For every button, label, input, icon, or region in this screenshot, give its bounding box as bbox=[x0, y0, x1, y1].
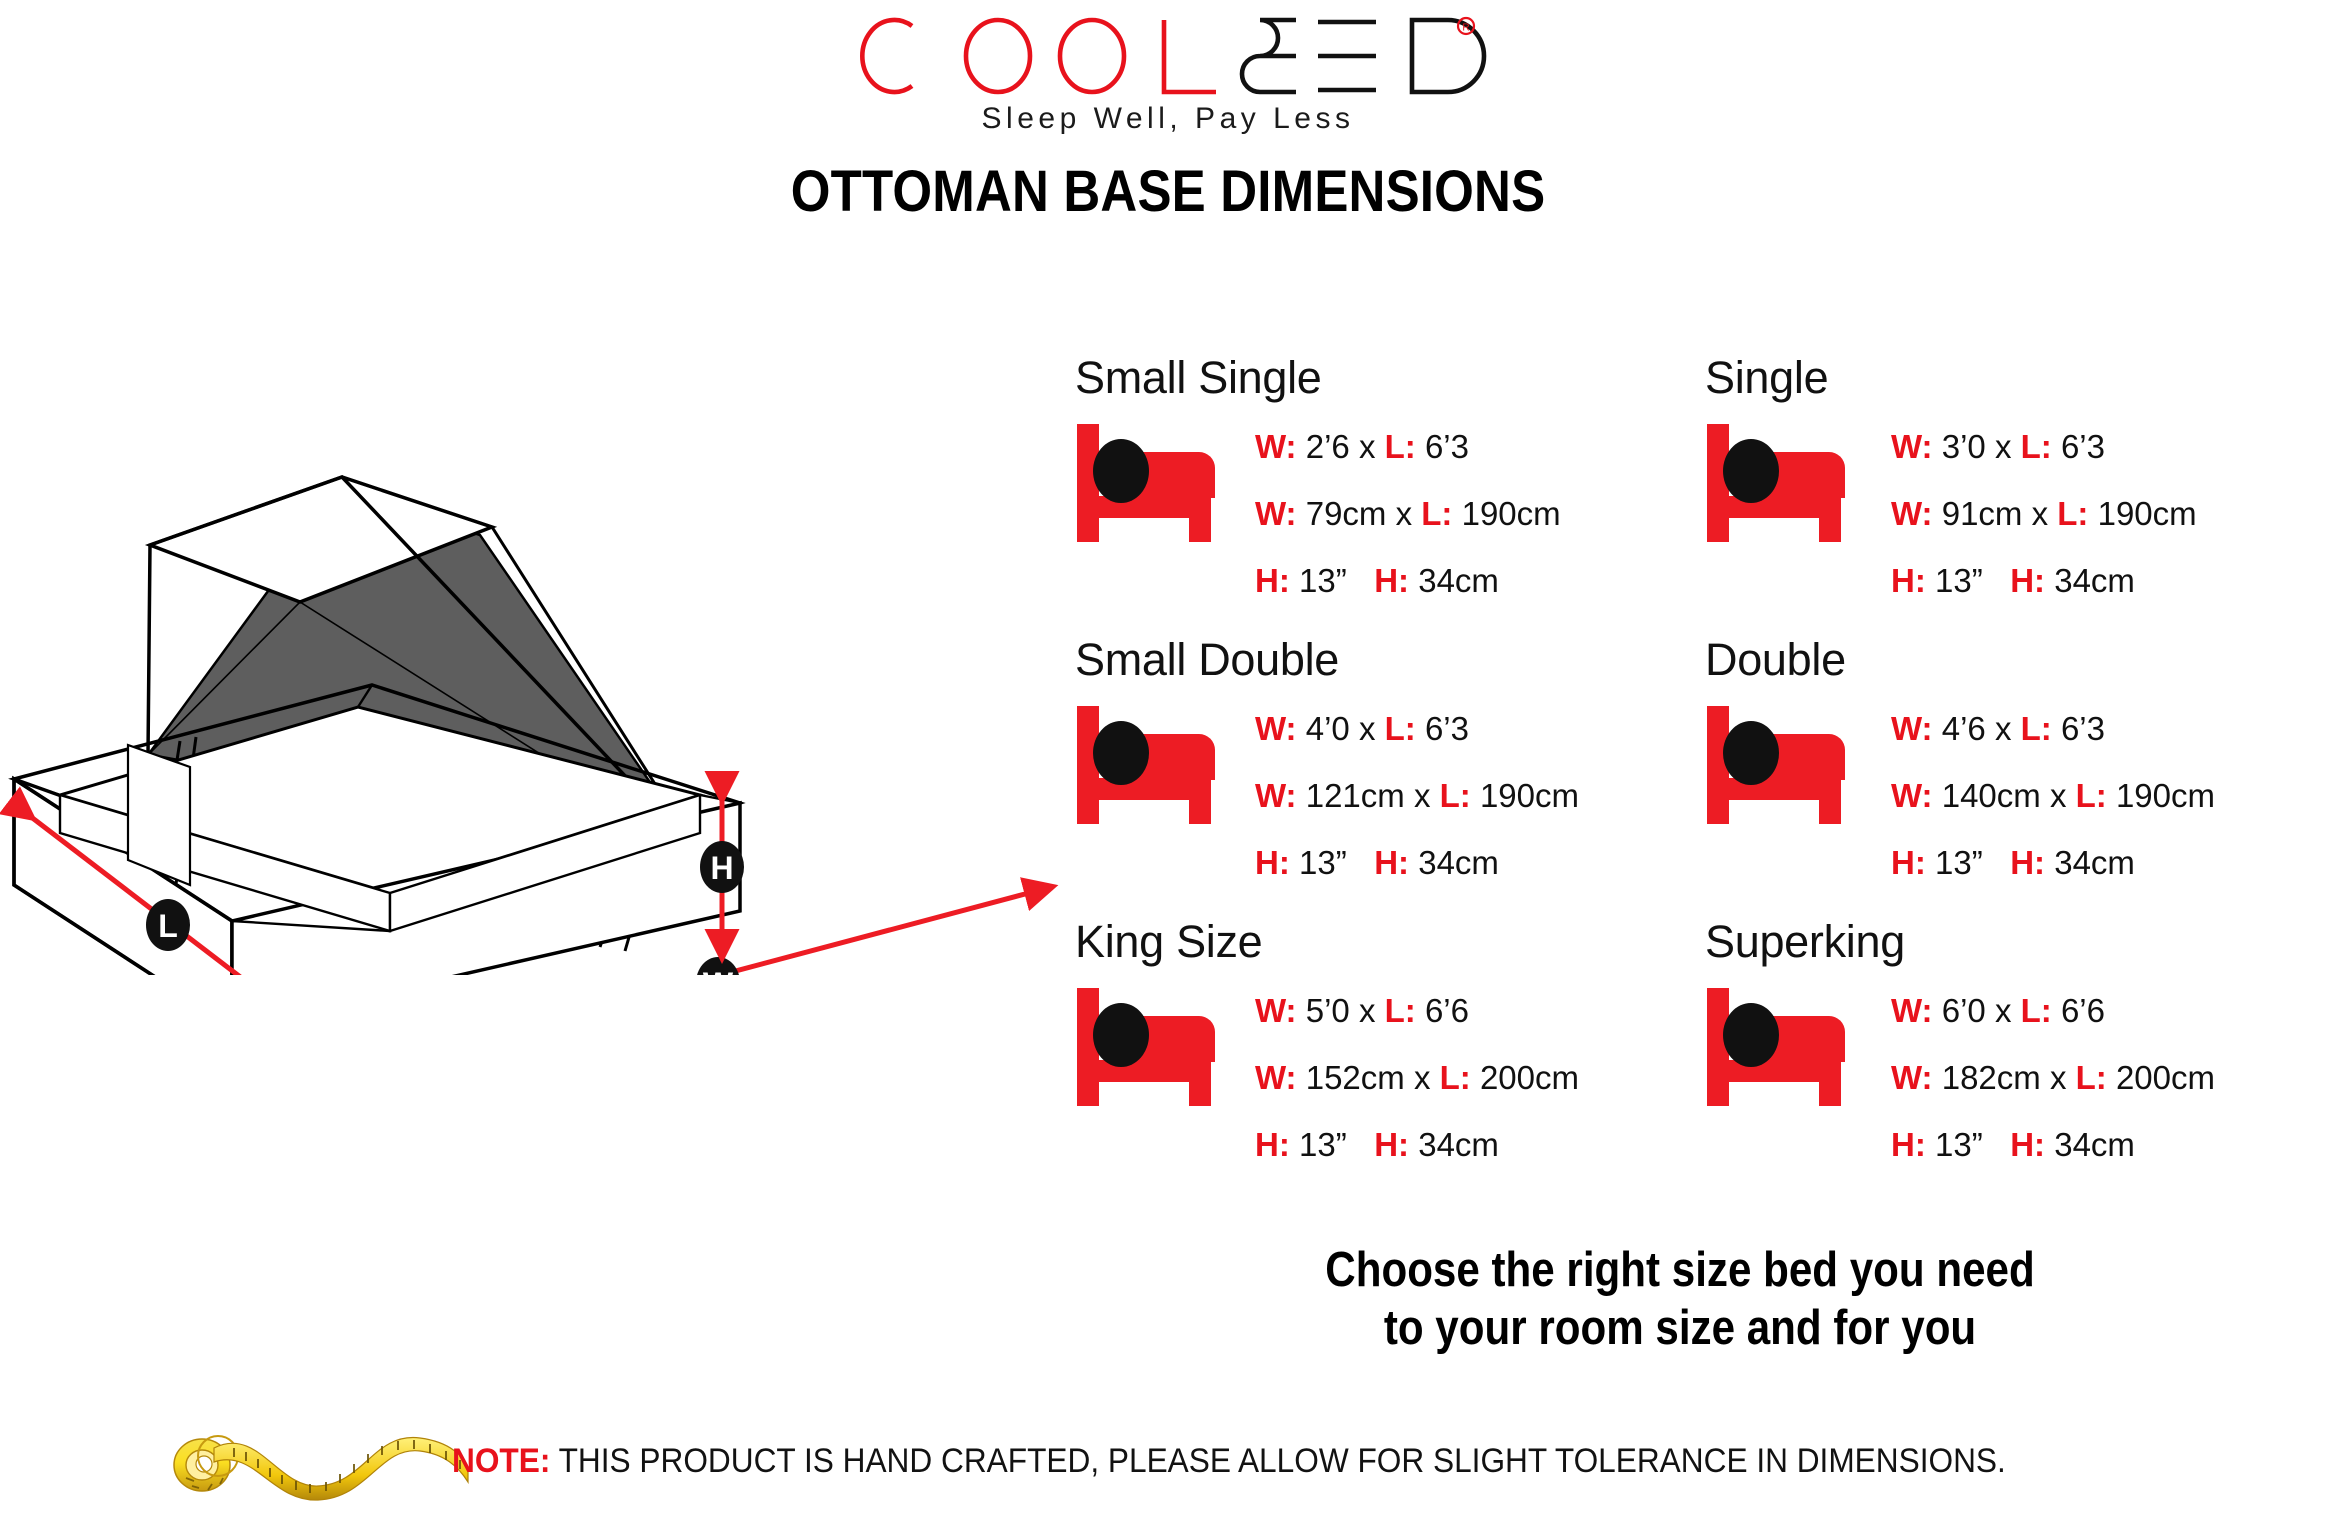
spec-width-value: 79cm bbox=[1306, 495, 1387, 532]
spec-height-inches: 13” bbox=[1935, 1126, 1983, 1163]
spec-length-value: 6’6 bbox=[1425, 992, 1469, 1029]
spec-width-value: 5’0 bbox=[1306, 992, 1350, 1029]
bed-icon bbox=[1705, 982, 1857, 1115]
note-label: NOTE: bbox=[452, 1442, 550, 1480]
spec-width-value: 4’6 bbox=[1942, 710, 1986, 747]
spec-width-value: 140cm bbox=[1942, 777, 2041, 814]
spec-imperial: W: 3’0 x L: 6’3 bbox=[1891, 430, 2336, 463]
spec-width-value: 121cm bbox=[1306, 777, 1405, 814]
brand-header: R Sleep Well, Pay Less OTTOMAN BASE DIME… bbox=[0, 0, 2336, 225]
spec-height-cm: 34cm bbox=[2054, 562, 2135, 599]
size-specs: W: 4’6 x L: 6’3 W: 140cm x L: 190cm H: 1… bbox=[1891, 712, 2336, 879]
spec-width-key: W: bbox=[1255, 777, 1297, 814]
spec-imperial: W: 4’0 x L: 6’3 bbox=[1255, 712, 1705, 745]
size-specs: W: 2’6 x L: 6’3 W: 79cm x L: 190cm H: 13… bbox=[1255, 430, 1705, 597]
spec-width-value: 91cm bbox=[1942, 495, 2023, 532]
spec-length-value: 6’6 bbox=[2061, 992, 2105, 1029]
spec-separator: x bbox=[1995, 992, 2012, 1029]
height-label: H bbox=[710, 850, 733, 886]
page-title: OTTOMAN BASE DIMENSIONS bbox=[140, 158, 2196, 225]
spec-width-key: W: bbox=[1255, 710, 1297, 747]
spec-metric: W: 140cm x L: 190cm bbox=[1891, 779, 2336, 812]
cta-line-1: Choose the right size bed you need bbox=[1216, 1242, 2145, 1300]
spec-length-key: L: bbox=[1385, 992, 1416, 1029]
spec-length-key: L: bbox=[2076, 1059, 2107, 1096]
bed-icon bbox=[1075, 982, 1227, 1115]
spec-height-key-imperial: H: bbox=[1255, 1126, 1290, 1163]
size-card-title: Small Double bbox=[1075, 637, 1705, 682]
size-card-title: Double bbox=[1705, 637, 2336, 682]
cta-line-2: to your room size and for you bbox=[1216, 1300, 2145, 1358]
spec-width-value: 6’0 bbox=[1942, 992, 1986, 1029]
size-card-title: King Size bbox=[1075, 919, 1705, 964]
spec-length-key: L: bbox=[1385, 710, 1416, 747]
spec-width-key: W: bbox=[1891, 428, 1933, 465]
spec-height-cm: 34cm bbox=[2054, 844, 2135, 881]
spec-height-key-imperial: H: bbox=[1891, 562, 1926, 599]
size-card-king-size: King Size W: 5’0 x L: 6’6 bbox=[1075, 919, 1705, 1201]
spec-width-value: 2’6 bbox=[1306, 428, 1350, 465]
spec-height-key-metric: H: bbox=[1374, 562, 1409, 599]
spec-height-key-metric: H: bbox=[1374, 844, 1409, 881]
spec-length-key: L: bbox=[2076, 777, 2107, 814]
spec-length-key: L: bbox=[1385, 428, 1416, 465]
spec-height-key-imperial: H: bbox=[1255, 844, 1290, 881]
spec-width-key: W: bbox=[1891, 992, 1933, 1029]
brand-tagline: Sleep Well, Pay Less bbox=[0, 102, 2336, 136]
size-card-single: Single W: 3’0 x L: 6’3 bbox=[1705, 355, 2336, 637]
spec-length-key: L: bbox=[2057, 495, 2088, 532]
size-card-small-double: Small Double W: 4’0 x L: 6’3 bbox=[1075, 637, 1705, 919]
size-card-title: Small Single bbox=[1075, 355, 1705, 400]
size-specs: W: 4’0 x L: 6’3 W: 121cm x L: 190cm H: 1… bbox=[1255, 712, 1705, 879]
note-body: THIS PRODUCT IS HAND CRAFTED, PLEASE ALL… bbox=[559, 1442, 2006, 1480]
size-specs: W: 6’0 x L: 6’6 W: 182cm x L: 200cm H: 1… bbox=[1891, 994, 2336, 1161]
spec-height-key-imperial: H: bbox=[1891, 844, 1926, 881]
spec-height-inches: 13” bbox=[1935, 844, 1983, 881]
spec-height-key-metric: H: bbox=[2010, 1126, 2045, 1163]
spec-width-value: 152cm bbox=[1306, 1059, 1405, 1096]
spec-height-cm: 34cm bbox=[1418, 562, 1499, 599]
spec-length-key: L: bbox=[1421, 495, 1452, 532]
size-card-double: Double W: 4’6 x L: 6’3 bbox=[1705, 637, 2336, 919]
size-specs: W: 5’0 x L: 6’6 W: 152cm x L: 200cm H: 1… bbox=[1255, 994, 1705, 1161]
spec-separator: x bbox=[1359, 992, 1376, 1029]
spec-height-inches: 13” bbox=[1299, 562, 1347, 599]
spec-height-cm: 34cm bbox=[2054, 1126, 2135, 1163]
spec-height: H: 13” H: 34cm bbox=[1255, 564, 1705, 597]
spec-height: H: 13” H: 34cm bbox=[1891, 846, 2336, 879]
size-card-superking: Superking W: 6’0 x L: 6’6 bbox=[1705, 919, 2336, 1201]
spec-length-value: 190cm bbox=[1462, 495, 1561, 532]
spec-imperial: W: 6’0 x L: 6’6 bbox=[1891, 994, 2336, 1027]
spec-width-key: W: bbox=[1891, 777, 1933, 814]
spec-length-value: 200cm bbox=[2116, 1059, 2215, 1096]
spec-separator: x bbox=[1359, 710, 1376, 747]
ottoman-bed-illustration: L W H bbox=[0, 355, 1080, 975]
spec-length-value: 6’3 bbox=[2061, 428, 2105, 465]
spec-height-inches: 13” bbox=[1299, 844, 1347, 881]
bed-size-grid: Small Single W: 2’6 x L: 6’3 bbox=[1075, 355, 2336, 1201]
coolbed-logo: R bbox=[0, 14, 2336, 98]
spec-height: H: 13” H: 34cm bbox=[1255, 1128, 1705, 1161]
note-row: NOTE: THIS PRODUCT IS HAND CRAFTED, PLEA… bbox=[0, 1416, 2336, 1516]
spec-separator: x bbox=[1359, 428, 1376, 465]
spec-separator: x bbox=[1396, 495, 1413, 532]
spec-imperial: W: 2’6 x L: 6’3 bbox=[1255, 430, 1705, 463]
spec-imperial: W: 4’6 x L: 6’3 bbox=[1891, 712, 2336, 745]
spec-length-value: 6’3 bbox=[2061, 710, 2105, 747]
spec-length-key: L: bbox=[2021, 992, 2052, 1029]
spec-separator: x bbox=[2050, 777, 2067, 814]
spec-metric: W: 121cm x L: 190cm bbox=[1255, 779, 1705, 812]
spec-separator: x bbox=[1995, 428, 2012, 465]
spec-width-key: W: bbox=[1255, 495, 1297, 532]
spec-separator: x bbox=[1414, 777, 1431, 814]
spec-height-inches: 13” bbox=[1935, 562, 1983, 599]
bed-icon bbox=[1075, 418, 1227, 551]
spec-width-key: W: bbox=[1255, 1059, 1297, 1096]
spec-height: H: 13” H: 34cm bbox=[1255, 846, 1705, 879]
spec-width-key: W: bbox=[1255, 992, 1297, 1029]
spec-height-key-metric: H: bbox=[1374, 1126, 1409, 1163]
spec-width-key: W: bbox=[1891, 495, 1933, 532]
size-card-title: Single bbox=[1705, 355, 2336, 400]
spec-metric: W: 79cm x L: 190cm bbox=[1255, 497, 1705, 530]
spec-height-cm: 34cm bbox=[1418, 844, 1499, 881]
spec-length-key: L: bbox=[1440, 777, 1471, 814]
bed-base-box bbox=[14, 685, 740, 975]
length-label: L bbox=[158, 908, 178, 944]
ottoman-bed-diagram: L W H bbox=[0, 355, 1080, 975]
spec-length-value: 6’3 bbox=[1425, 710, 1469, 747]
call-to-action: Choose the right size bed you need to yo… bbox=[1216, 1242, 2145, 1358]
spec-separator: x bbox=[2032, 495, 2049, 532]
spec-length-value: 190cm bbox=[1480, 777, 1579, 814]
spec-width-key: W: bbox=[1891, 1059, 1933, 1096]
spec-separator: x bbox=[1995, 710, 2012, 747]
bed-icon bbox=[1705, 418, 1857, 551]
spec-length-value: 6’3 bbox=[1425, 428, 1469, 465]
spec-length-value: 200cm bbox=[1480, 1059, 1579, 1096]
spec-metric: W: 182cm x L: 200cm bbox=[1891, 1061, 2336, 1094]
spec-height-key-imperial: H: bbox=[1891, 1126, 1926, 1163]
spec-height-cm: 34cm bbox=[1418, 1126, 1499, 1163]
spec-separator: x bbox=[2050, 1059, 2067, 1096]
size-specs: W: 3’0 x L: 6’3 W: 91cm x L: 190cm H: 13… bbox=[1891, 430, 2336, 597]
spec-metric: W: 152cm x L: 200cm bbox=[1255, 1061, 1705, 1094]
spec-length-value: 190cm bbox=[2116, 777, 2215, 814]
size-card-title: Superking bbox=[1705, 919, 2336, 964]
spec-width-value: 4’0 bbox=[1306, 710, 1350, 747]
spec-width-value: 3’0 bbox=[1942, 428, 1986, 465]
spec-width-key: W: bbox=[1255, 428, 1297, 465]
spec-height: H: 13” H: 34cm bbox=[1891, 564, 2336, 597]
spec-height: H: 13” H: 34cm bbox=[1891, 1128, 2336, 1161]
note-text: NOTE: THIS PRODUCT IS HAND CRAFTED, PLEA… bbox=[452, 1442, 2006, 1481]
spec-imperial: W: 5’0 x L: 6’6 bbox=[1255, 994, 1705, 1027]
spec-separator: x bbox=[1414, 1059, 1431, 1096]
svg-text:R: R bbox=[1462, 23, 1469, 34]
bed-icon bbox=[1705, 700, 1857, 833]
spec-width-value: 182cm bbox=[1942, 1059, 2041, 1096]
tape-measure-icon bbox=[168, 1418, 478, 1513]
coolbed-logo-mark: R bbox=[848, 14, 1488, 98]
bed-icon bbox=[1075, 700, 1227, 833]
width-label: W bbox=[703, 966, 734, 975]
spec-height-key-metric: H: bbox=[2010, 844, 2045, 881]
spec-length-key: L: bbox=[2021, 710, 2052, 747]
spec-length-key: L: bbox=[2021, 428, 2052, 465]
spec-height-key-imperial: H: bbox=[1255, 562, 1290, 599]
spec-length-key: L: bbox=[1440, 1059, 1471, 1096]
spec-height-key-metric: H: bbox=[2010, 562, 2045, 599]
spec-height-inches: 13” bbox=[1299, 1126, 1347, 1163]
spec-length-value: 190cm bbox=[2098, 495, 2197, 532]
spec-width-key: W: bbox=[1891, 710, 1933, 747]
spec-metric: W: 91cm x L: 190cm bbox=[1891, 497, 2336, 530]
size-card-small-single: Small Single W: 2’6 x L: 6’3 bbox=[1075, 355, 1705, 637]
